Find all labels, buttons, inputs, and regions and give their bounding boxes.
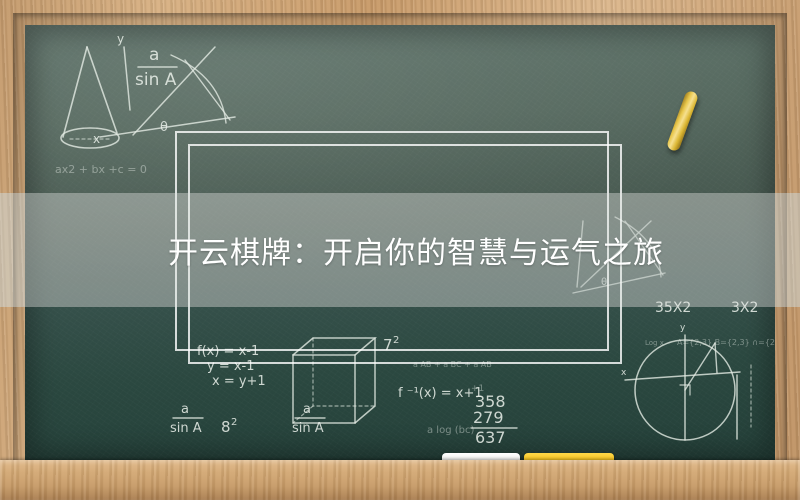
fraction-a-over-sinA-topleft: a sin A <box>135 45 177 90</box>
log-note: a log (bc) <box>427 425 474 436</box>
eight-squared-note: 8 2 <box>221 417 237 436</box>
svg-text:y: y <box>117 32 124 46</box>
svg-text:sin A: sin A <box>170 421 202 436</box>
chalkboard-banner: a sin A y x θ ax2 + bx +c = 0 f(x) = x-1 <box>0 0 800 500</box>
fraction-a-over-sinA-bottomleft: a sin A <box>170 402 203 436</box>
set-note: A={2,3} B={2,3} ∩={2,3} <box>677 338 775 347</box>
svg-text:a: a <box>303 402 311 417</box>
addition-problem: +1 358 279 637 <box>471 384 517 447</box>
x-equation-note: x = y+1 <box>212 374 266 389</box>
inverse-function-note: f ⁻¹(x) = x+1 <box>398 386 483 401</box>
svg-text:279: 279 <box>473 408 504 427</box>
svg-text:sin A: sin A <box>135 70 177 90</box>
quadratic-formula-note: ax2 + bx +c = 0 <box>55 163 147 176</box>
svg-text:a: a <box>149 45 159 65</box>
svg-text:sin A: sin A <box>292 421 324 436</box>
svg-text:2: 2 <box>231 417 237 428</box>
svg-text:θ: θ <box>160 120 168 135</box>
page-title: 开云棋牌：开启你的智慧与运气之旅 <box>0 193 800 307</box>
svg-text:a: a <box>181 402 189 417</box>
cube-diagram-right <box>737 365 751 439</box>
svg-text:8: 8 <box>221 418 231 436</box>
svg-text:x: x <box>93 132 100 146</box>
svg-text:x: x <box>621 368 627 378</box>
cone-diagram <box>61 47 119 148</box>
chalk-tray <box>0 460 800 500</box>
svg-text:637: 637 <box>475 428 506 447</box>
svg-text:y: y <box>680 323 686 333</box>
